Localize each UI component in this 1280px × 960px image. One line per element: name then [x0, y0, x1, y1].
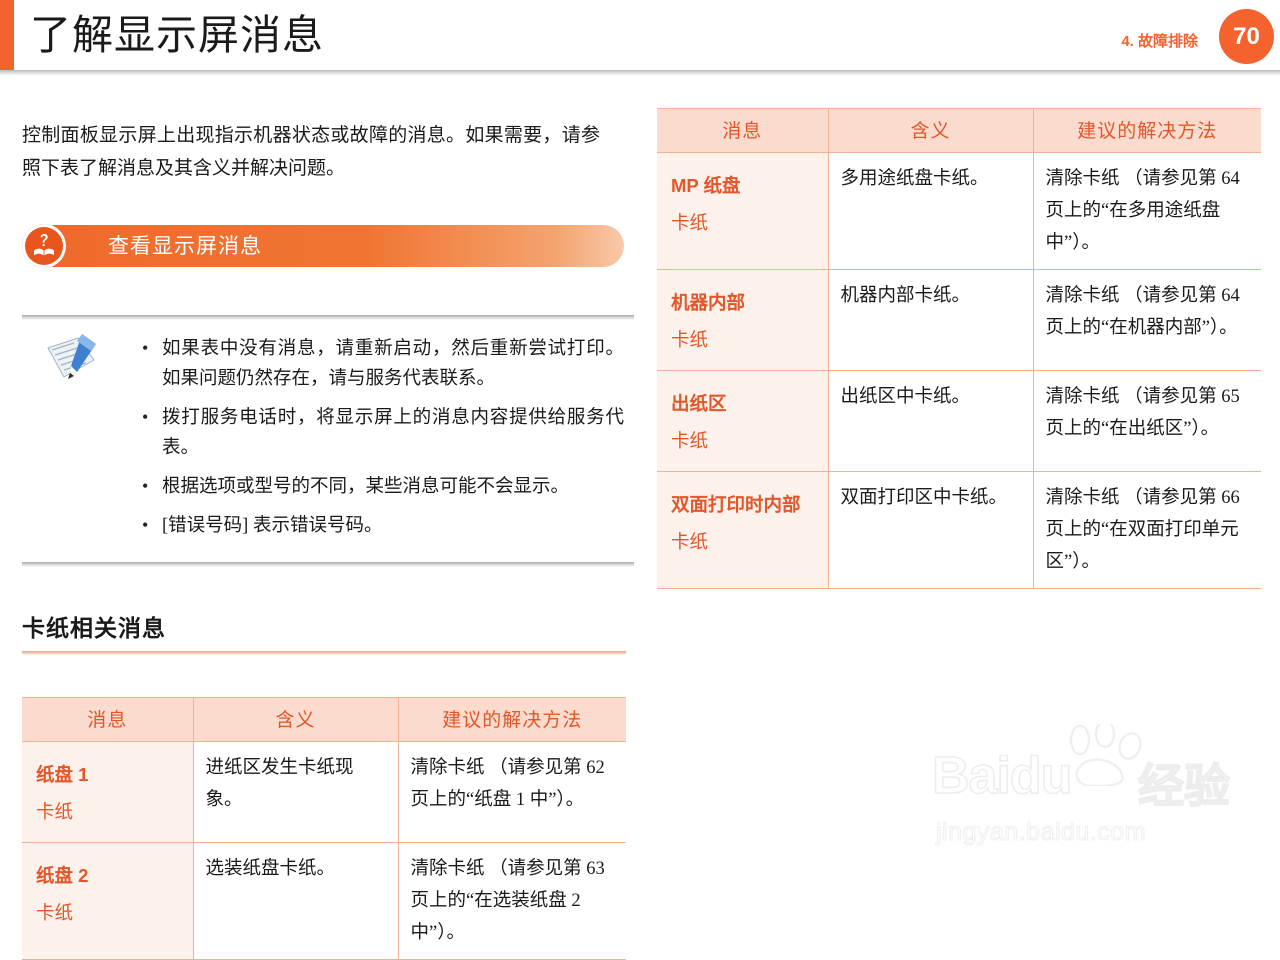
- message-line-1: MP 纸盘: [671, 175, 741, 196]
- cell-solution: 清除卡纸 （请参见第 64 页上的“在多用途纸盘中”）。: [1033, 153, 1261, 270]
- note-bullet-item: 根据选项或型号的不同，某些消息可能不会显示。: [140, 472, 624, 502]
- cell-solution: 清除卡纸 （请参见第 62 页上的“纸盘 1 中”）。: [398, 742, 626, 843]
- column-header-message: 消息: [22, 698, 193, 742]
- cell-meaning: 机器内部卡纸。: [828, 270, 1033, 371]
- message-line-2: 卡纸: [671, 322, 816, 360]
- section-heading: 卡纸相关消息: [22, 609, 626, 651]
- pencil-note-icon: [44, 332, 106, 386]
- note-bullet-item: [错误号码] 表示错误号码。: [140, 511, 624, 541]
- note-box: 如果表中没有消息，请重新启动，然后重新尝试打印。如果问题仍然存在，请与服务代表联…: [22, 315, 634, 567]
- page-title: 了解显示屏消息: [30, 6, 324, 64]
- cell-meaning: 进纸区发生卡纸现象。: [193, 742, 398, 843]
- table-row: 纸盘 2 卡纸 选装纸盘卡纸。 清除卡纸 （请参见第 63 页上的“在选装纸盘 …: [22, 843, 626, 960]
- cell-message: 出纸区 卡纸: [657, 371, 828, 472]
- column-header-meaning: 含义: [193, 698, 398, 742]
- cell-solution: 清除卡纸 （请参见第 66 页上的“在双面打印单元区”）。: [1033, 472, 1261, 589]
- cell-message: 机器内部 卡纸: [657, 270, 828, 371]
- table-header-row: 消息 含义 建议的解决方法: [22, 698, 626, 742]
- jam-messages-table-left: 消息 含义 建议的解决方法 纸盘 1 卡纸 进纸区发生卡纸现象。 清除卡纸 （请…: [22, 697, 626, 960]
- paw-icon: [1060, 724, 1150, 786]
- table-header-row: 消息 含义 建议的解决方法: [657, 109, 1261, 153]
- message-line-1: 机器内部: [671, 292, 745, 313]
- header-divider-rule: [0, 70, 1280, 76]
- header-accent-bar: [0, 0, 14, 70]
- page-number-badge: 70: [1219, 9, 1274, 64]
- message-line-1: 纸盘 1: [36, 764, 88, 785]
- message-line-2: 卡纸: [671, 524, 816, 562]
- note-bullet-item: 如果表中没有消息，请重新启动，然后重新尝试打印。如果问题仍然存在，请与服务代表联…: [140, 334, 624, 394]
- column-header-solution: 建议的解决方法: [398, 698, 626, 742]
- table-row: 双面打印时内部 卡纸 双面打印区中卡纸。 清除卡纸 （请参见第 66 页上的“在…: [657, 472, 1261, 589]
- message-line-1: 纸盘 2: [36, 865, 88, 886]
- column-header-solution: 建议的解决方法: [1033, 109, 1261, 153]
- page-header: 了解显示屏消息 4. 故障排除 70: [0, 0, 1280, 86]
- cell-solution: 清除卡纸 （请参见第 63 页上的“在选装纸盘 2 中”）。: [398, 843, 626, 960]
- cell-meaning: 双面打印区中卡纸。: [828, 472, 1033, 589]
- right-column: 消息 含义 建议的解决方法 MP 纸盘 卡纸 多用途纸盘卡纸。 清除卡纸 （请参…: [657, 108, 1261, 589]
- cell-meaning: 选装纸盘卡纸。: [193, 843, 398, 960]
- table-row: MP 纸盘 卡纸 多用途纸盘卡纸。 清除卡纸 （请参见第 64 页上的“在多用途…: [657, 153, 1261, 270]
- watermark-url: jingyan.baidu.com: [936, 818, 1146, 847]
- book-question-icon: [22, 224, 66, 268]
- watermark-brand: Baidu: [932, 746, 1071, 806]
- message-line-2: 卡纸: [36, 895, 181, 933]
- chapter-label: 4. 故障排除: [1121, 30, 1198, 51]
- column-header-message: 消息: [657, 109, 828, 153]
- intro-paragraph: 控制面板显示屏上出现指示机器状态或故障的消息。如果需要，请参照下表了解消息及其含…: [22, 119, 600, 185]
- message-line-2: 卡纸: [36, 794, 181, 832]
- baidu-watermark: Baidu 经验 jingyan.baidu.com: [920, 716, 1260, 856]
- callout-label: 查看显示屏消息: [108, 225, 262, 267]
- callout-banner: 查看显示屏消息: [22, 225, 624, 267]
- jam-messages-table-right: 消息 含义 建议的解决方法 MP 纸盘 卡纸 多用途纸盘卡纸。 清除卡纸 （请参…: [657, 108, 1261, 589]
- column-header-meaning: 含义: [828, 109, 1033, 153]
- table-row: 纸盘 1 卡纸 进纸区发生卡纸现象。 清除卡纸 （请参见第 62 页上的“纸盘 …: [22, 742, 626, 843]
- cell-message: 双面打印时内部 卡纸: [657, 472, 828, 589]
- note-body: 如果表中没有消息，请重新启动，然后重新尝试打印。如果问题仍然存在，请与服务代表联…: [22, 320, 634, 562]
- watermark-brand-cn: 经验: [1138, 750, 1230, 816]
- note-bullet-item: 拨打服务电话时，将显示屏上的消息内容提供给服务代表。: [140, 403, 624, 463]
- cell-solution: 清除卡纸 （请参见第 64 页上的“在机器内部”）。: [1033, 270, 1261, 371]
- section-heading-rule: [22, 651, 626, 655]
- table-row: 出纸区 卡纸 出纸区中卡纸。 清除卡纸 （请参见第 65 页上的“在出纸区”）。: [657, 371, 1261, 472]
- cell-message: 纸盘 1 卡纸: [22, 742, 193, 843]
- message-line-1: 出纸区: [671, 393, 727, 414]
- message-line-1: 双面打印时内部: [671, 494, 801, 515]
- message-line-2: 卡纸: [671, 205, 816, 243]
- cell-message: MP 纸盘 卡纸: [657, 153, 828, 270]
- section-heading-block: 卡纸相关消息: [22, 609, 626, 655]
- message-line-2: 卡纸: [671, 423, 816, 461]
- left-column: 控制面板显示屏上出现指示机器状态或故障的消息。如果需要，请参照下表了解消息及其含…: [22, 100, 626, 960]
- cell-message: 纸盘 2 卡纸: [22, 843, 193, 960]
- cell-meaning: 多用途纸盘卡纸。: [828, 153, 1033, 270]
- note-bullet-list: 如果表中没有消息，请重新启动，然后重新尝试打印。如果问题仍然存在，请与服务代表联…: [22, 334, 634, 541]
- table-row: 机器内部 卡纸 机器内部卡纸。 清除卡纸 （请参见第 64 页上的“在机器内部”…: [657, 270, 1261, 371]
- cell-meaning: 出纸区中卡纸。: [828, 371, 1033, 472]
- note-bottom-rule: [22, 562, 634, 567]
- cell-solution: 清除卡纸 （请参见第 65 页上的“在出纸区”）。: [1033, 371, 1261, 472]
